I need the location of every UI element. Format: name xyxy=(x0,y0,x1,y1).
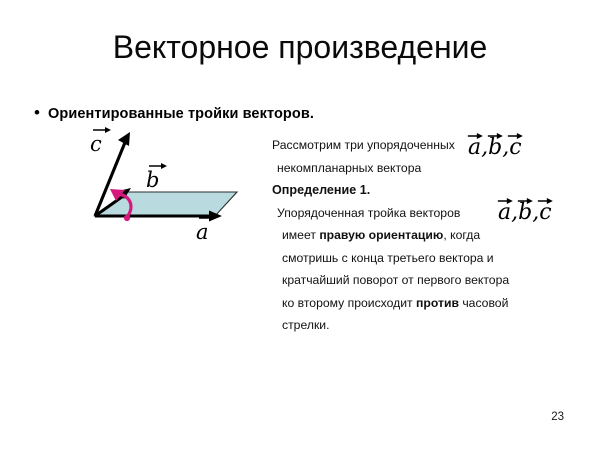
body-line-5: имеет правую ориентацию, когда xyxy=(272,224,600,247)
body-line-8: ко второму происходит против часовой xyxy=(272,292,600,315)
body-line-5-pre: имеет xyxy=(282,228,319,242)
body-line-2: некомпланарных вектора xyxy=(272,157,600,180)
page-title: Векторное произведение xyxy=(0,29,600,66)
body-line-1-text: Рассмотрим три упорядоченных xyxy=(272,138,455,152)
overhead-arrow-icon xyxy=(496,197,513,204)
vector-label-a: a xyxy=(196,220,209,244)
body-line-4: Упорядоченная тройка векторов a , b , xyxy=(272,202,600,225)
overhead-arrow-icon xyxy=(487,132,504,139)
body-line-4-text: Упорядоченная тройка векторов xyxy=(277,206,460,220)
overhead-arrow-icon xyxy=(507,132,524,139)
body-line-8-pre: ко второму происходит xyxy=(282,296,416,310)
math-vector-b: b xyxy=(518,200,532,225)
body-line-7: кратчайший поворот от первого вектора xyxy=(272,269,600,292)
page-number: 23 xyxy=(551,411,564,423)
body-text-block: Рассмотрим три упорядоченных a , b , xyxy=(272,134,600,337)
overhead-arrow-icon xyxy=(537,197,554,204)
overhead-arrow-icon xyxy=(466,132,483,139)
vector-label-c: c xyxy=(90,132,102,156)
vector-label-b: b xyxy=(146,168,159,192)
definition-heading-label: Определение 1. xyxy=(272,183,370,197)
body-line-8-post: часовой xyxy=(459,296,508,310)
body-line-2-text: некомпланарных вектора xyxy=(277,161,421,175)
bullet-dot-icon: • xyxy=(34,104,48,121)
overhead-arrow-icon xyxy=(517,197,534,204)
body-line-7-text: кратчайший поворот от первого вектора xyxy=(282,273,509,287)
rotation-arc-tail-dot xyxy=(124,215,130,221)
body-line-9: стрелки. xyxy=(272,314,600,337)
body-line-5-post: , когда xyxy=(443,228,480,242)
slide-canvas: Векторное произведение • Ориентированные… xyxy=(0,0,600,450)
body-line-5-bold: правую ориентацию xyxy=(319,228,443,242)
body-line-6-text: смотришь с конца третьего вектора и xyxy=(282,251,494,265)
body-line-9-text: стрелки. xyxy=(282,318,329,332)
body-line-6: смотришь с конца третьего вектора и xyxy=(272,247,600,270)
body-line-1: Рассмотрим три упорядоченных a , b , xyxy=(272,134,600,157)
vector-triple-diagram: c b a xyxy=(70,118,260,263)
math-expression-abc-2: a , b , c xyxy=(498,200,552,225)
math-vector-a: a xyxy=(498,200,511,225)
body-line-8-bold: против xyxy=(416,296,459,310)
math-vector-c: c xyxy=(539,200,551,225)
